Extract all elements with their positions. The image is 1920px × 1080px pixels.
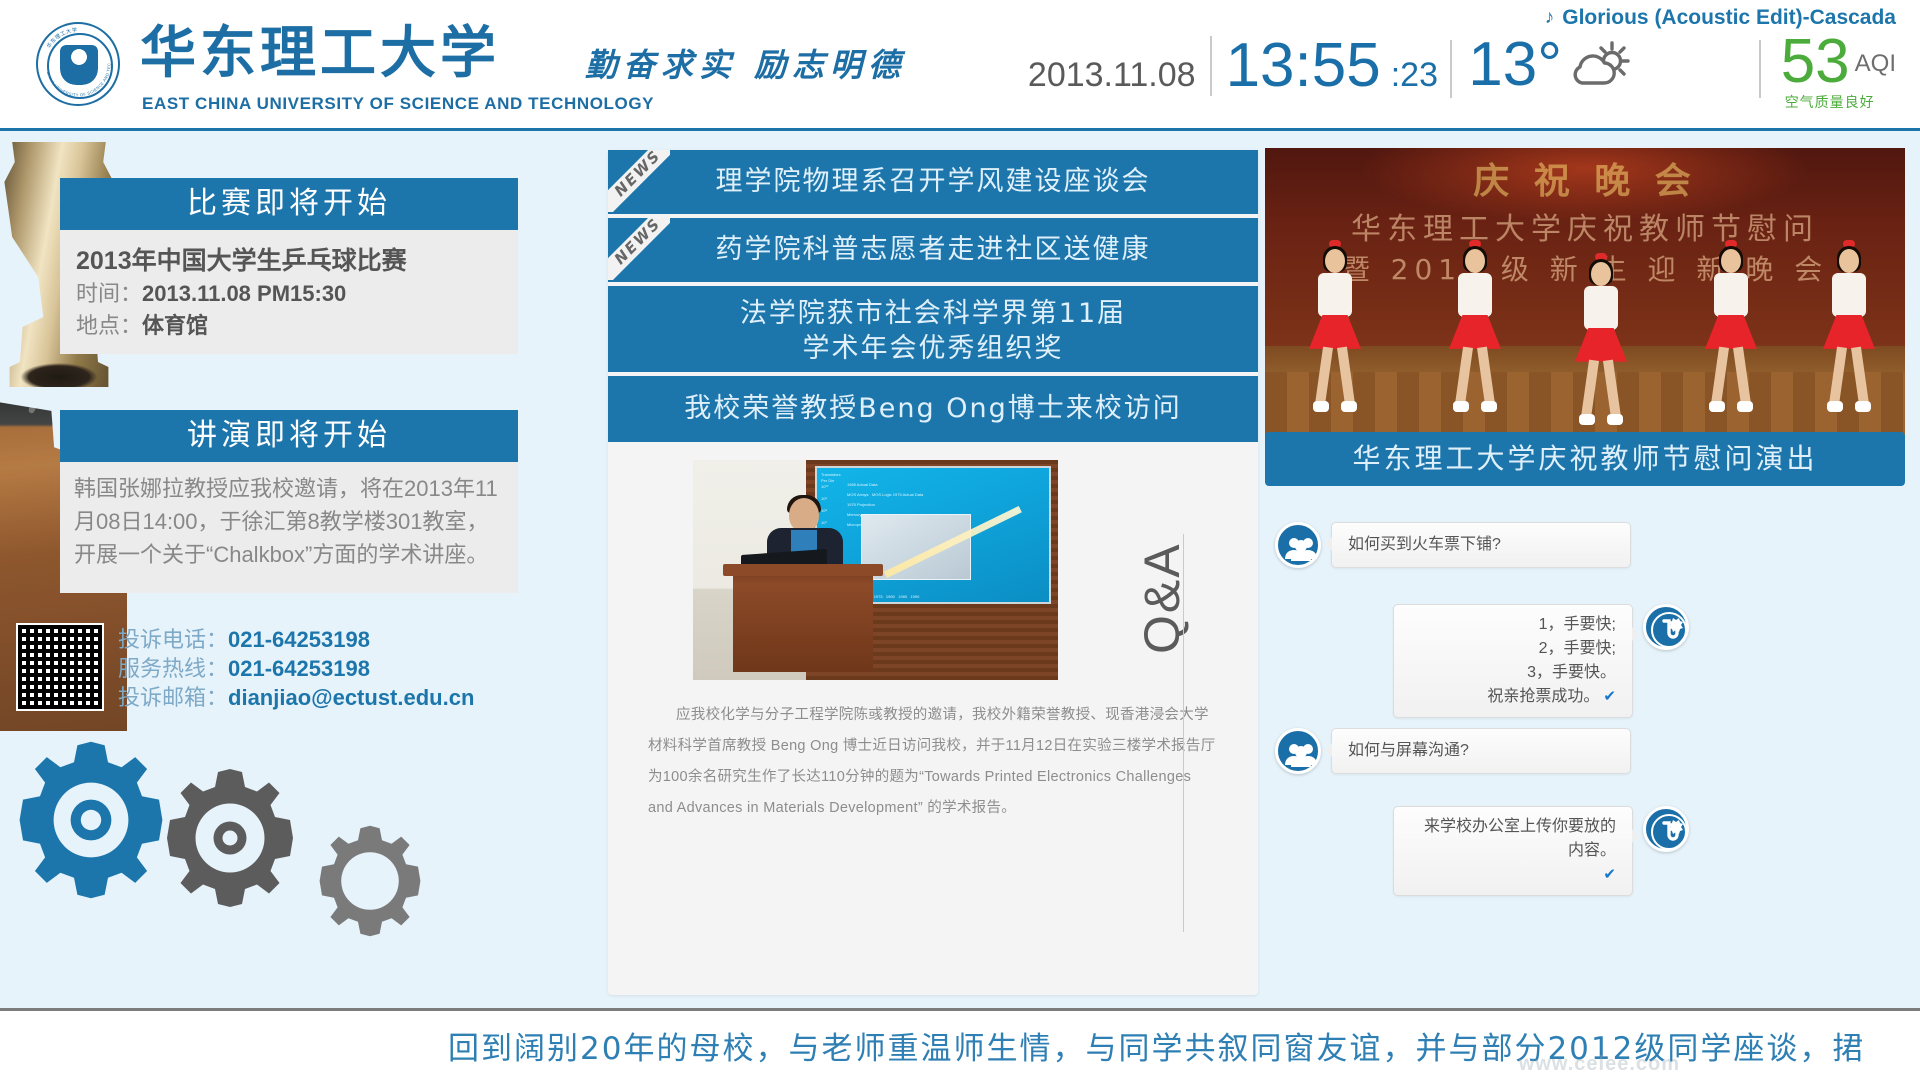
match-place-label: 地点： [76,313,142,338]
contact-label: 服务热线： [118,656,228,681]
news-item-title-line1: 法学院获市社会科学界第11届 [608,296,1258,331]
match-panel-body: 2013年中国大学生乒乓球比赛 时间：2013.11.08 PM15:30 地点… [60,230,518,354]
qa-answer-line: 3，手要快。 [1410,661,1616,685]
dancer-figure [1307,249,1363,417]
ticker-accent [1400,1008,1920,1011]
dancer-figure [1821,249,1877,417]
news-badge: NEWS [608,218,670,280]
lecture-photo: TransistorsPer Die 10¹⁰ 10⁹ 10⁸ 10⁷ 10⁶ … [693,460,1058,680]
contact-value: 021-64253198 [228,627,370,652]
watermark: www.celee.com [1519,1053,1680,1076]
right-column: 庆 祝 晚 会 华东理工大学庆祝教师节慰问 暨 2013 级 新 生 迎 新 晚… [1265,148,1905,1008]
match-panel-header: 比赛即将开始 [60,178,518,230]
qr-code-icon[interactable] [16,623,104,711]
performance-video[interactable]: 庆 祝 晚 会 华东理工大学庆祝教师节慰问 暨 2013 级 新 生 迎 新 晚… [1265,148,1905,468]
university-name-en: EAST CHINA UNIVERSITY OF SCIENCE AND TEC… [142,94,654,114]
news-item-title: 药学院科普志愿者走进社区送健康 [716,234,1151,265]
qa-message-row: 如何与屏幕沟通? [1275,728,1631,774]
news-item-title-line2: 学术年会优秀组织奖 [608,331,1258,366]
contact-row: 服务热线：021-64253198 [118,654,474,683]
left-column: 比赛即将开始 2013年中国大学生乒乓球比赛 时间：2013.11.08 PM1… [0,131,590,1080]
news-item-title: 理学院物理系召开学风建设座谈会 [716,166,1151,197]
gear-decoration-gray-small-icon [310,821,430,941]
dancer-figure [1447,249,1503,417]
news-item[interactable]: 法学院获市社会科学界第11届 学术年会优秀组织奖 [608,286,1258,372]
university-name-cn: 华东理工大学 [140,22,500,86]
match-time-label: 时间： [76,281,142,306]
date-text: 2013.11.08 [1028,56,1196,95]
qa-answer-line: 来学校办公室上传你要放的内容。 [1410,815,1616,863]
news-item[interactable]: NEWS 药学院科普志愿者走进社区送健康 [608,218,1258,282]
qa-answer-bubble: 来学校办公室上传你要放的内容。 ✔ [1393,806,1633,896]
gear-decoration-blue-icon [6,735,176,905]
qa-message-row: 来学校办公室上传你要放的内容。 ✔ [1393,806,1689,896]
news-badge-label: NEWS [608,218,670,280]
svg-text:CHINA UNIVERSITY OF SCIENCE AN: CHINA UNIVERSITY OF SCIENCE AND TECH [38,24,111,97]
match-time-value: 2013.11.08 PM15:30 [142,281,346,306]
university-seal-icon: 华东理工大学 CHINA UNIVERSITY OF SCIENCE AND T… [36,22,120,106]
contact-value: dianjiao@ectust.edu.cn [228,685,474,710]
match-place-row: 地点：体育馆 [76,310,518,342]
qa-answer-check-row: ✔ [1410,863,1616,887]
aqi-value: 53 [1781,34,1850,90]
dancer-figure [1703,249,1759,417]
check-icon: ✔ [1603,688,1616,705]
music-note-icon: ♪ [1545,7,1555,29]
aqi-widget: 53 AQI 空气质量良好 [1781,34,1896,90]
time-seconds: :23 [1391,56,1438,95]
contact-row: 投诉邮箱：dianjiao@ectust.edu.cn [118,683,474,712]
users-group-icon [1275,522,1321,568]
qa-divider [1183,534,1184,932]
qa-question-bubble: 如何与屏幕沟通? [1331,728,1631,774]
clock-divider [1210,36,1212,96]
temperature-value: 13° [1468,34,1562,96]
qa-question-bubble: 如何买到火车票下铺? [1331,522,1631,568]
partly-cloudy-icon [1568,39,1630,91]
qa-message-row: 如何买到火车票下铺? [1275,522,1631,568]
news-badge: NEWS [608,150,670,212]
check-icon: ✔ [1603,866,1616,883]
clock: 2013.11.08 13:55 :23 [1028,36,1438,96]
dancer-figure [1573,262,1629,430]
match-time-row: 时间：2013.11.08 PM15:30 [76,278,518,310]
seal-ring-text-icon: 华东理工大学 CHINA UNIVERSITY OF SCIENCE AND T… [38,24,118,104]
weather-widget: 13° [1468,34,1630,96]
qa-section: Q&A 如何买到火车票下铺? 1，手要快; [1123,504,1913,934]
match-place-value: 体育馆 [142,313,208,338]
page-header: 华东理工大学 CHINA UNIVERSITY OF SCIENCE AND T… [0,0,1920,131]
lecture-panel-body: 韩国张娜拉教授应我校邀请，将在2013年11月08日14:00，于徐汇第8教学楼… [60,462,518,593]
contact-value: 021-64253198 [228,656,370,681]
university-motto: 勤奋求实 励志明德 [585,40,906,86]
contact-lines: 投诉电话：021-64253198 服务热线：021-64253198 投诉邮箱… [118,623,474,712]
university-logo-icon [1643,806,1689,852]
news-ticker: 回到阔别20年的母校，与老师重温师生情，与同学共叙同窗友谊，并与部分2012级同… [0,1008,1920,1080]
contact-block: 投诉电话：021-64253198 服务热线：021-64253198 投诉邮箱… [16,623,474,712]
news-item[interactable]: NEWS 理学院物理系召开学风建设座谈会 [608,150,1258,214]
gear-decoration-gray-icon [155,763,305,913]
news-item[interactable]: 我校荣誉教授Beng Ong博士来校访问 [608,376,1258,442]
svg-text:华东理工大学: 华东理工大学 [45,26,78,50]
qa-answer-line: 1，手要快; [1410,613,1616,637]
lecture-panel-header: 讲演即将开始 [60,410,518,462]
news-badge-label: NEWS [608,150,670,212]
university-logo-icon [1643,604,1689,650]
aqi-unit-label: AQI [1855,50,1896,78]
qa-answer-bubble: 1，手要快; 2，手要快; 3，手要快。 祝亲抢票成功。✔ [1393,604,1633,718]
aqi-description: 空气质量良好 [1785,92,1875,112]
news-item-title: 我校荣誉教授Beng Ong博士来校访问 [684,393,1181,424]
qa-message-row: 1，手要快; 2，手要快; 3，手要快。 祝亲抢票成功。✔ [1393,604,1689,718]
contact-label: 投诉邮箱： [118,685,228,710]
contact-label: 投诉电话： [118,627,228,652]
contact-row: 投诉电话：021-64253198 [118,625,474,654]
qa-answer-line-last: 祝亲抢票成功。✔ [1410,685,1616,709]
qa-answer-line: 2，手要快; [1410,637,1616,661]
video-title: 华东理工大学庆祝教师节慰问演出 [1265,432,1905,486]
time-hours-minutes: 13:55 [1226,36,1381,96]
match-title: 2013年中国大学生乒乓球比赛 [76,244,518,278]
signage-screen: 华东理工大学 CHINA UNIVERSITY OF SCIENCE AND T… [0,0,1920,1080]
users-group-icon [1275,728,1321,774]
